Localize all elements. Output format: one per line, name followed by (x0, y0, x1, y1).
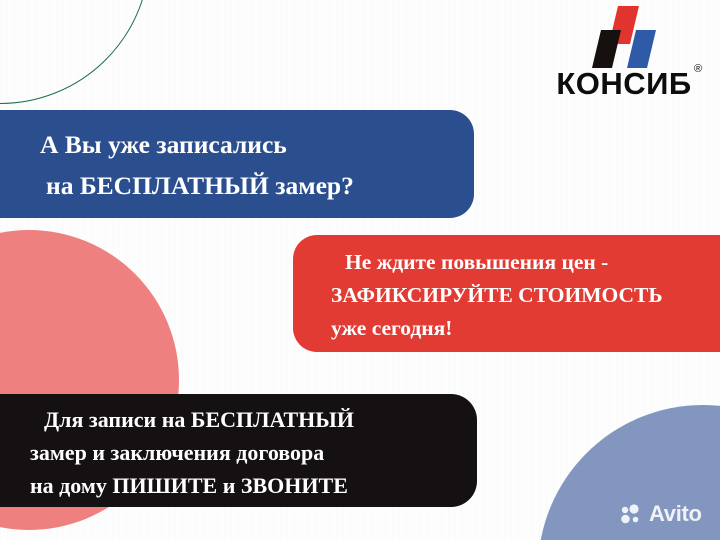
registered-trademark-symbol: ® (694, 63, 702, 75)
banner-red-line-1: Не ждите повышения цен - (331, 246, 720, 279)
konsib-parallelogram-logo-icon (592, 6, 656, 68)
banner-red-line-3: уже сегодня! (331, 312, 720, 345)
banner-black-line-1: Для записи на БЕСПЛАТНЫЙ (30, 403, 477, 436)
headline-banner-red: Не ждите повышения цен - ЗАФИКСИРУЙТЕ СТ… (293, 235, 720, 352)
banner-black-line-2: замер и заключения договора (30, 436, 477, 469)
brand-logo: КОНСИБ ® (536, 6, 712, 106)
banner-blue-line-1: А Вы уже записались (40, 124, 474, 165)
advertisement-poster: КОНСИБ ® А Вы уже записались на БЕСПЛАТН… (0, 0, 720, 540)
headline-banner-blue: А Вы уже записались на БЕСПЛАТНЫЙ замер? (0, 110, 474, 218)
brand-wordmark: КОНСИБ (536, 68, 712, 99)
avito-wordmark: Avito (649, 503, 702, 525)
banner-blue-line-2: на БЕСПЛАТНЫЙ замер? (40, 165, 474, 206)
headline-banner-black: Для записи на БЕСПЛАТНЫЙ замер и заключе… (0, 394, 477, 507)
avito-dots-icon (620, 504, 646, 524)
banner-red-line-2: ЗАФИКСИРУЙТЕ СТОИМОСТЬ (331, 279, 720, 312)
banner-black-line-3: на дому ПИШИТЕ и ЗВОНИТЕ (30, 469, 477, 502)
avito-watermark: Avito (620, 503, 702, 525)
green-ring-decoration (0, 0, 150, 104)
